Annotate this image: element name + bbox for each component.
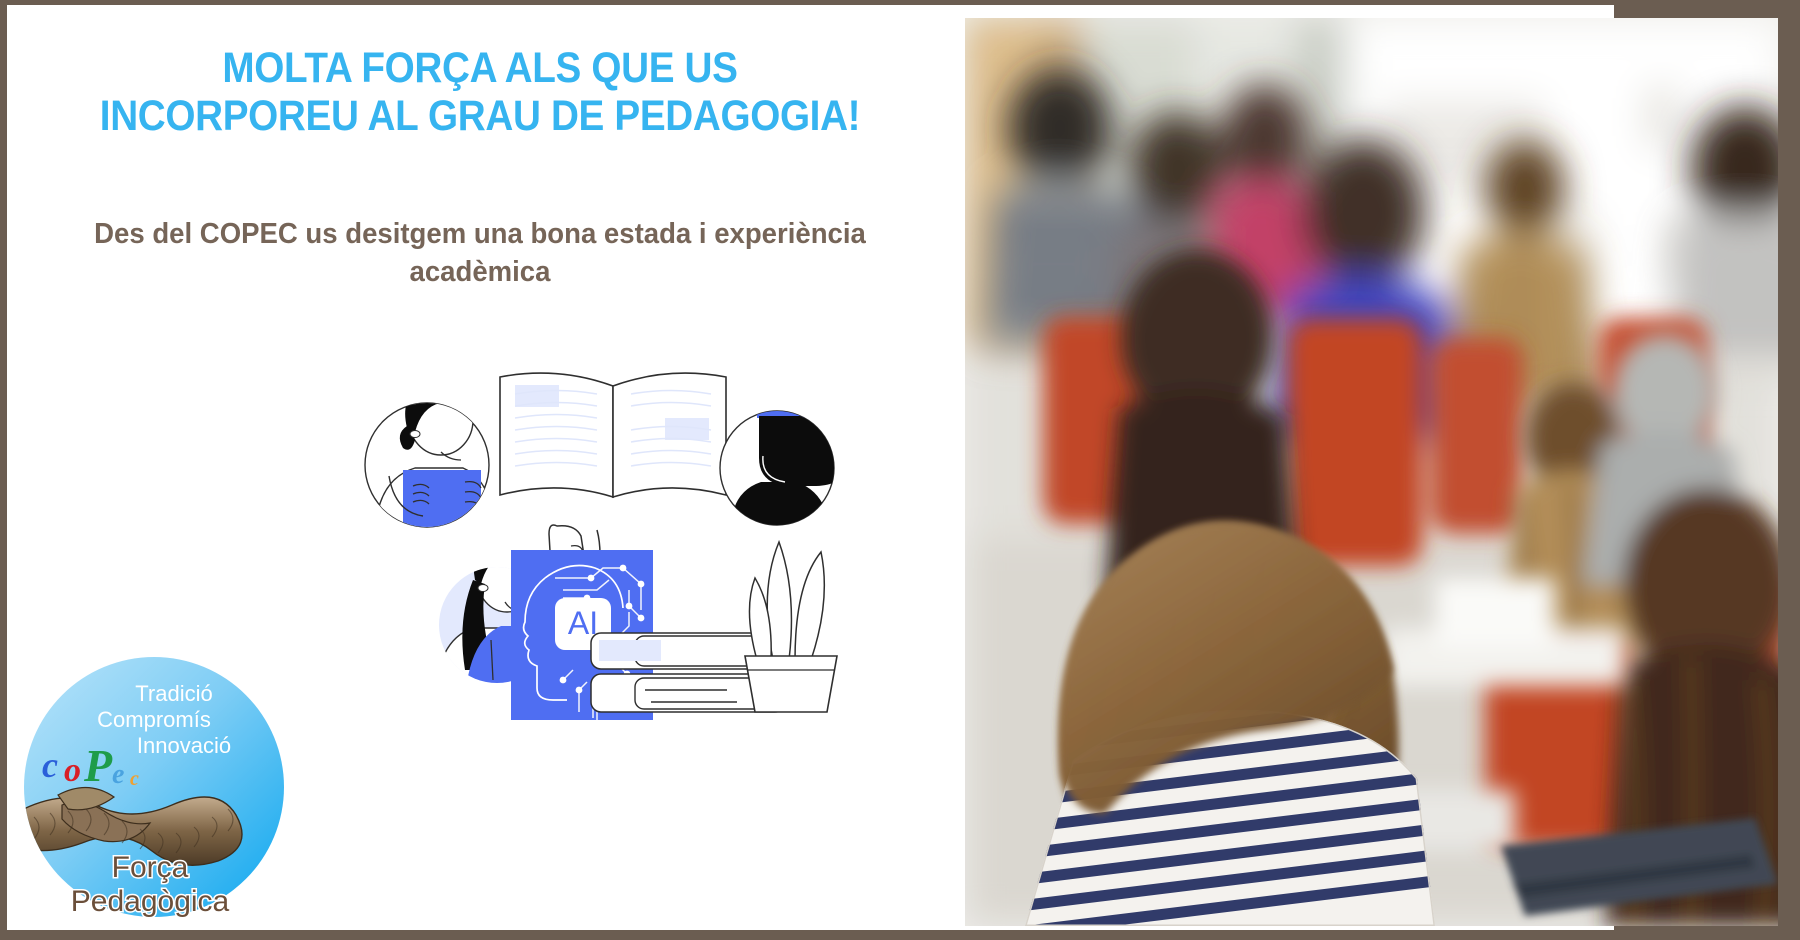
wordmark-letter-e: e bbox=[112, 759, 124, 790]
subtitle-line-1: Des del COPEC us desitgem una bona estad… bbox=[94, 218, 706, 250]
logo-tagline-line-1: Força bbox=[112, 851, 189, 884]
page-title: MOLTA FORÇA ALS QUE US INCORPOREU AL GRA… bbox=[48, 44, 912, 140]
headline-line-2: INCORPOREU AL GRAU DE PEDAGOGIA! bbox=[48, 92, 912, 140]
blurred-classroom-photo bbox=[965, 18, 1778, 926]
copec-forca-pedagogica-logo: Tradició Compromís Innovació c o P e c bbox=[22, 655, 287, 920]
subtitle: Des del COPEC us desitgem una bona estad… bbox=[76, 215, 884, 292]
wordmark-letter-P: P bbox=[83, 740, 113, 791]
wordmark-letter-o: o bbox=[64, 752, 81, 789]
ai-education-illustration: AI bbox=[345, 340, 845, 720]
person-right-graphic bbox=[720, 372, 843, 534]
logo-value-3: Innovació bbox=[137, 733, 231, 758]
logo-value-2: Compromís bbox=[97, 707, 211, 732]
potted-plant-graphic bbox=[745, 542, 837, 712]
open-book-graphic bbox=[500, 373, 726, 497]
slide-root: MOLTA FORÇA ALS QUE US INCORPOREU AL GRA… bbox=[0, 0, 1800, 940]
wordmark-letter-c1: c bbox=[42, 745, 58, 785]
logo-value-1: Tradició bbox=[135, 681, 212, 706]
person-reading-left-graphic bbox=[365, 382, 495, 548]
wordmark-letter-c2: c bbox=[130, 768, 139, 790]
logo-tagline-line-2: Pedagògica bbox=[71, 885, 230, 918]
headline-line-1: MOLTA FORÇA ALS QUE US bbox=[222, 44, 737, 92]
